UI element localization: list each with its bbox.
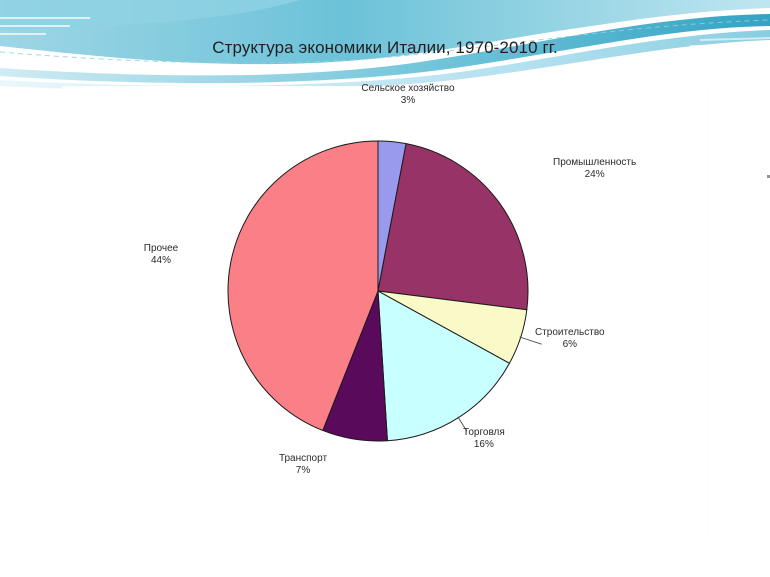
pie-label-trade: Торговля 16% (463, 427, 505, 451)
pie-label-agriculture: Сельское хозяйство 3% (348, 83, 468, 107)
chart-frame: Сельское хозяйство 3% Промышленность 24%… (62, 86, 708, 541)
pie-label-transport: Транспорт 7% (243, 453, 363, 477)
slide-title: Структура экономики Италии, 1970-2010 гг… (0, 38, 770, 58)
pie-chart (63, 87, 709, 542)
pie-label-industry: Промышленность 24% (553, 157, 636, 181)
pie-label-construction: Строительство 6% (535, 327, 605, 351)
pie-label-other: Прочее 44% (101, 243, 221, 267)
